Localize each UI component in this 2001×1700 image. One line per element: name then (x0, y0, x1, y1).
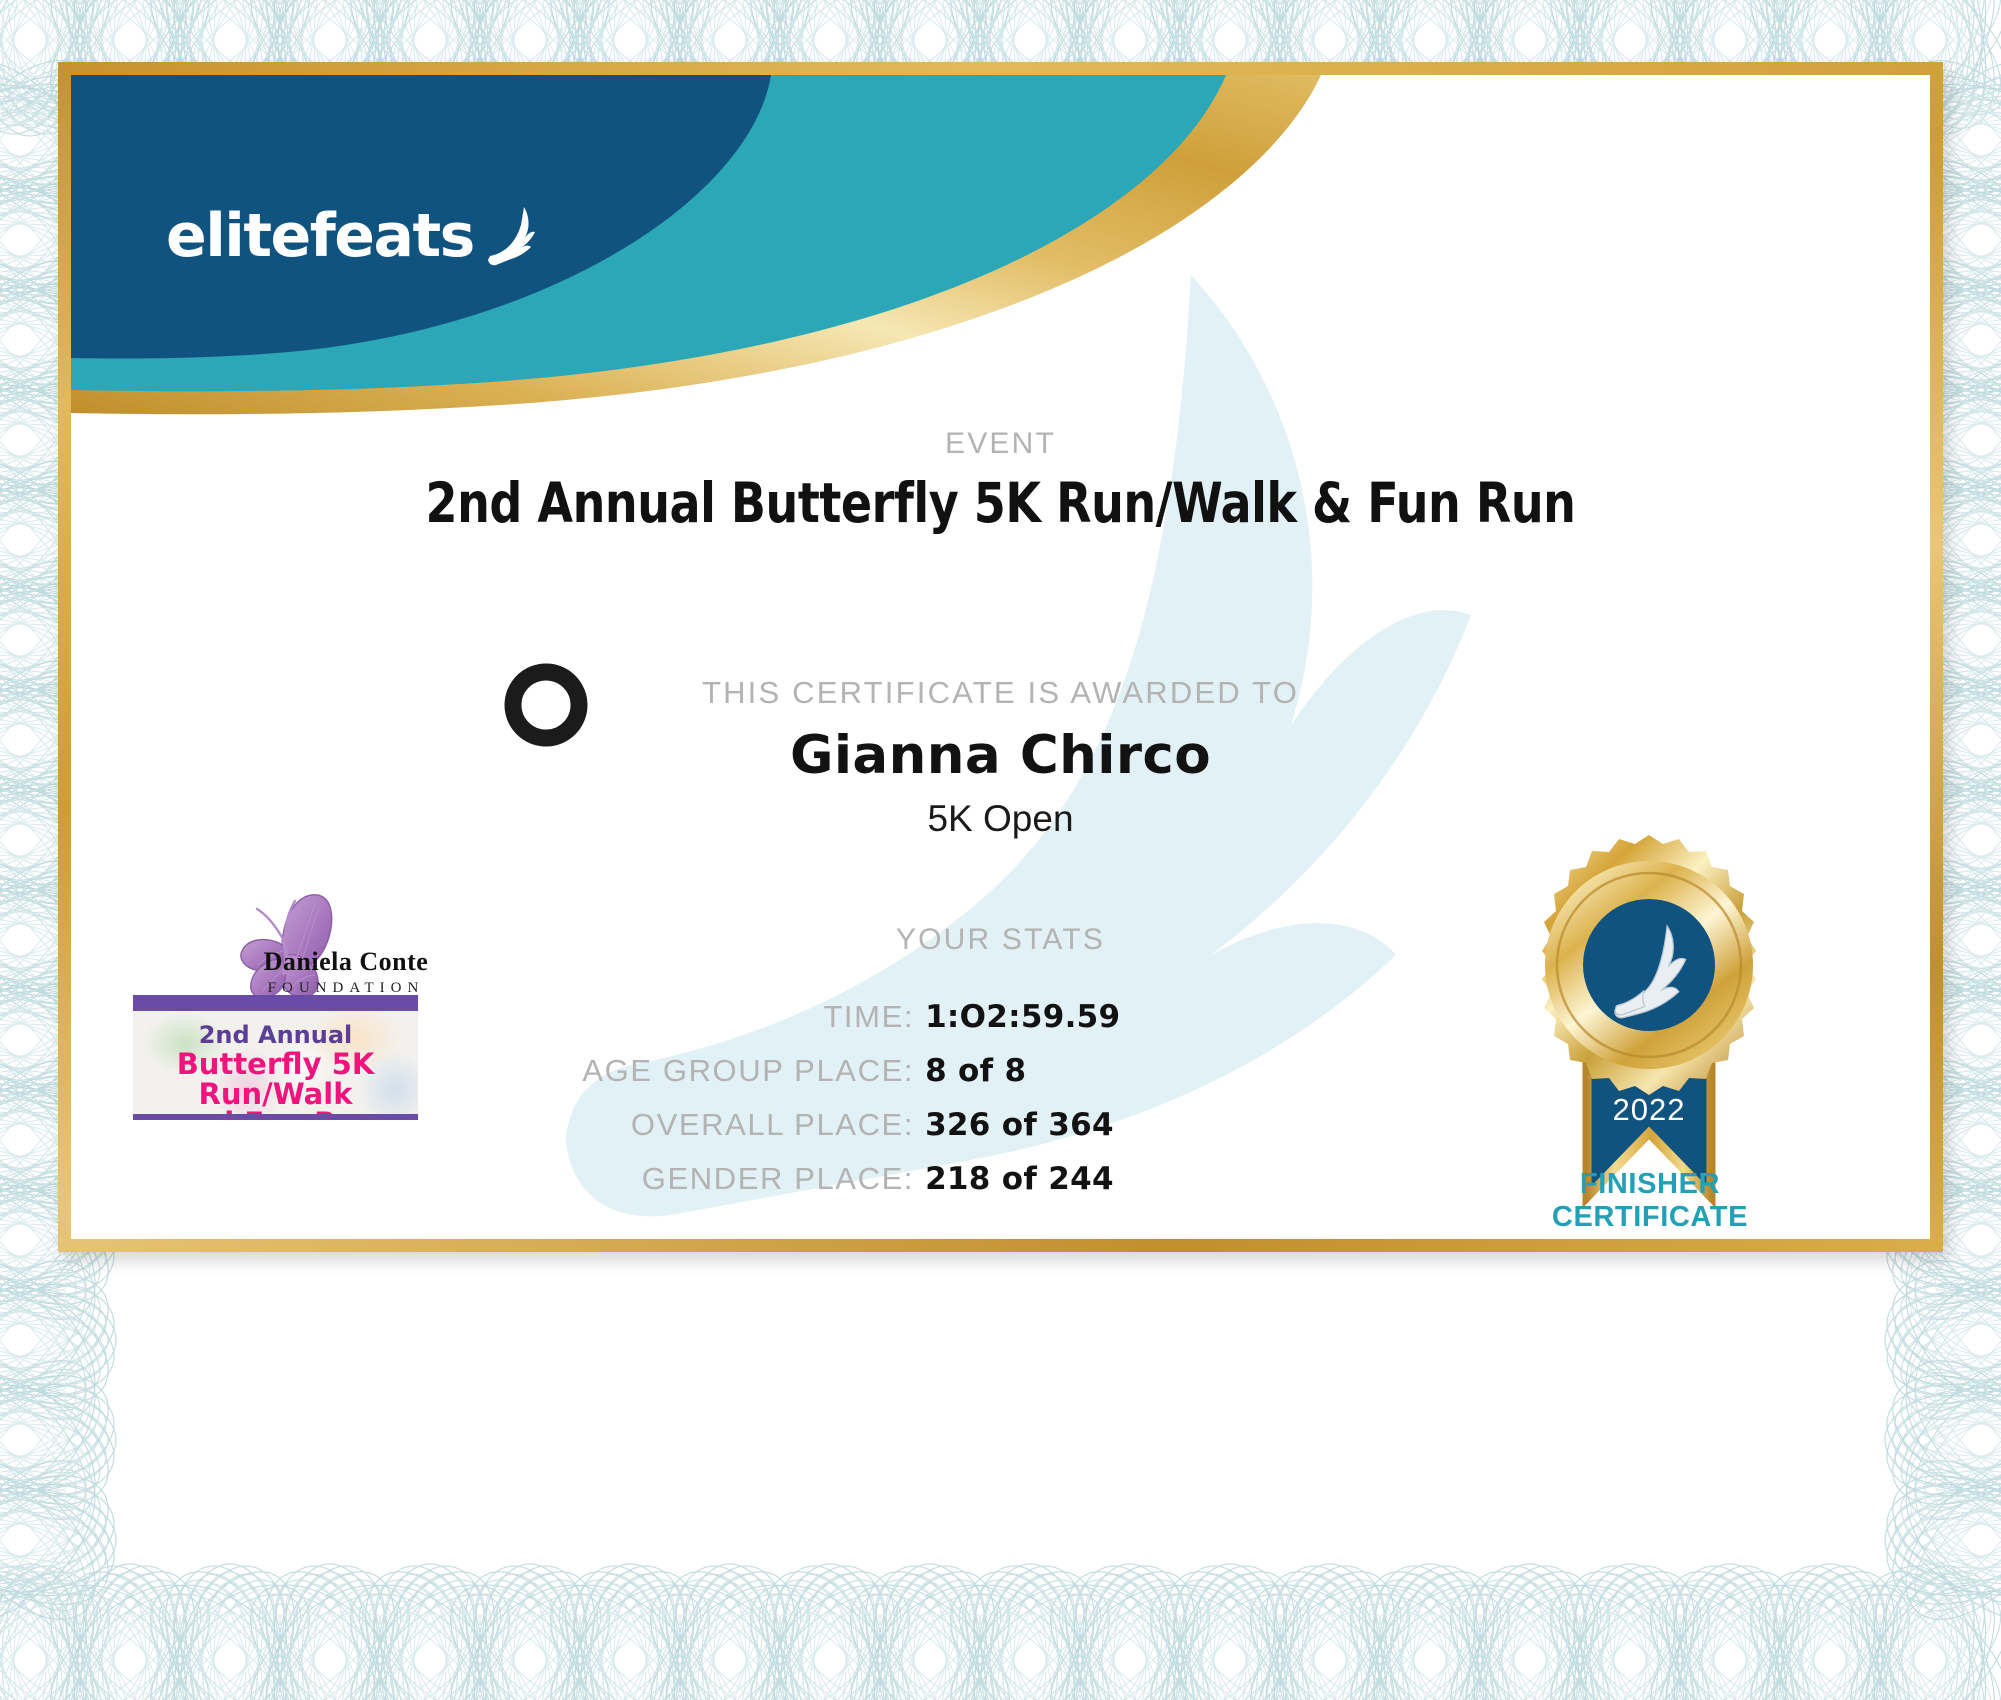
finisher-caption-line-2: CERTIFICATE (1475, 1201, 1825, 1234)
certificate-card: elitefeats EVENT 2nd Annual Butterfly 5K… (58, 62, 1943, 1252)
stats-table: TIME: 1:O2:59.59 AGE GROUP PLACE: 8 of 8… (441, 990, 1201, 1206)
stat-value-time: 1:O2:59.59 (925, 990, 1201, 1044)
poster-title-main: Butterfly 5K Run/Walk (133, 1050, 418, 1109)
stat-row-overall-place: OVERALL PLACE: 326 of 364 (441, 1098, 1201, 1152)
stat-row-age-group-place: AGE GROUP PLACE: 8 of 8 (441, 1044, 1201, 1098)
brand-logo: elitefeats (166, 203, 542, 269)
stat-key-age-group-place: AGE GROUP PLACE: (441, 1044, 925, 1098)
poster-bottom-bar (133, 1114, 418, 1120)
stat-key-gender-place: GENDER PLACE: (441, 1152, 925, 1206)
finisher-certificate-caption: FINISHER CERTIFICATE (1475, 1168, 1825, 1234)
stat-row-time: TIME: 1:O2:59.59 (441, 990, 1201, 1044)
stat-key-overall-place: OVERALL PLACE: (441, 1098, 925, 1152)
certificate-page: elitefeats EVENT 2nd Annual Butterfly 5K… (0, 0, 2001, 1700)
stat-key-time: TIME: (441, 990, 925, 1044)
foundation-name: Daniela Conte (201, 947, 491, 977)
poster-line-1: 2nd Annual (133, 1021, 418, 1049)
event-poster-thumbnail: 2nd Annual Butterfly 5K Run/Walk and Fun… (133, 995, 418, 1120)
event-title: 2nd Annual Butterfly 5K Run/Walk & Fun R… (136, 471, 1865, 535)
recipient-name: Gianna Chirco (71, 725, 1930, 786)
stat-value-gender-place: 218 of 244 (925, 1152, 1201, 1206)
finisher-caption-line-1: FINISHER (1475, 1168, 1825, 1201)
stat-value-overall-place: 326 of 364 (925, 1098, 1201, 1152)
stat-row-gender-place: GENDER PLACE: 218 of 244 (441, 1152, 1201, 1206)
poster-top-bar (133, 995, 418, 1011)
brand-logo-text: elitefeats (166, 206, 474, 266)
winged-foot-icon (480, 203, 542, 275)
stat-value-age-group-place: 8 of 8 (925, 1044, 1201, 1098)
poster-line-2: Butterfly 5K Run/Walk and Fun Run (133, 1050, 418, 1120)
event-label: EVENT (71, 427, 1930, 461)
awarded-to-label: THIS CERTIFICATE IS AWARDED TO (71, 675, 1930, 711)
